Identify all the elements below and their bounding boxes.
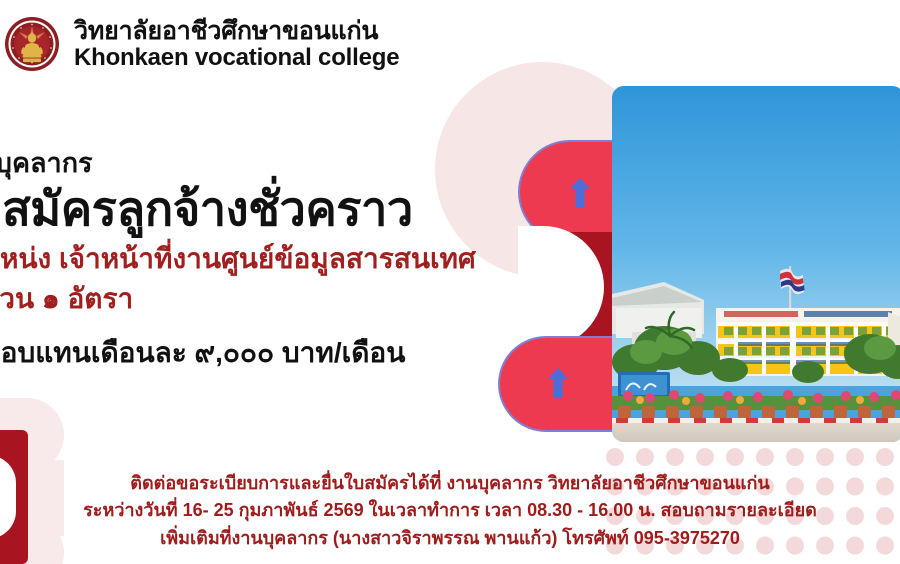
org-name-english: Khonkaen vocational college [74, 45, 399, 71]
organization-names: วิทยาลัยอาชีวศึกษาขอนแก่น Khonkaen vocat… [74, 18, 399, 71]
recruitment-poster: วิทยาลัยอาชีวศึกษาขอนแก่น Khonkaen vocat… [0, 0, 900, 564]
poster-header: วิทยาลัยอาชีวศึกษาขอนแก่น Khonkaen vocat… [0, 14, 399, 74]
announcement-department: งานบุคลากร [0, 148, 588, 179]
contact-line-2: ระหว่างวันที่ 16- 25 กุมภาพันธ์ 2569 ในเ… [0, 497, 900, 524]
announcement-position: ตำแหน่ง เจ้าหน้าที่งานศูนย์ข้อมูลสารสนเท… [0, 241, 588, 277]
announcement-salary: ค่าตอบแทนเดือนละ ๙,๐๐๐ บาท/เดือน [0, 335, 588, 371]
contact-line-3: เพิ่มเติมที่งานบุคลากร (นางสาวจิราพรรณ พ… [0, 525, 900, 552]
college-campus-photo [612, 86, 900, 442]
up-arrow-icon [548, 368, 568, 398]
org-name-thai: วิทยาลัยอาชีวศึกษาขอนแก่น [74, 18, 399, 45]
college-seal-emblem-icon [4, 14, 60, 74]
announcement-title: รับสมัครลูกจ้างชั่วคราว [0, 181, 588, 236]
contact-line-1: ติดต่อขอระเบียบการและยื่นใบสมัครได้ที่ ง… [0, 470, 900, 497]
announcement-block: งานบุคลากร รับสมัครลูกจ้างชั่วคราว ตำแหน… [0, 148, 588, 372]
contact-footer: ติดต่อขอระเบียบการและยื่นใบสมัครได้ที่ ง… [0, 470, 900, 552]
announcement-quantity: จำนวน ๑ อัตรา [0, 281, 588, 317]
